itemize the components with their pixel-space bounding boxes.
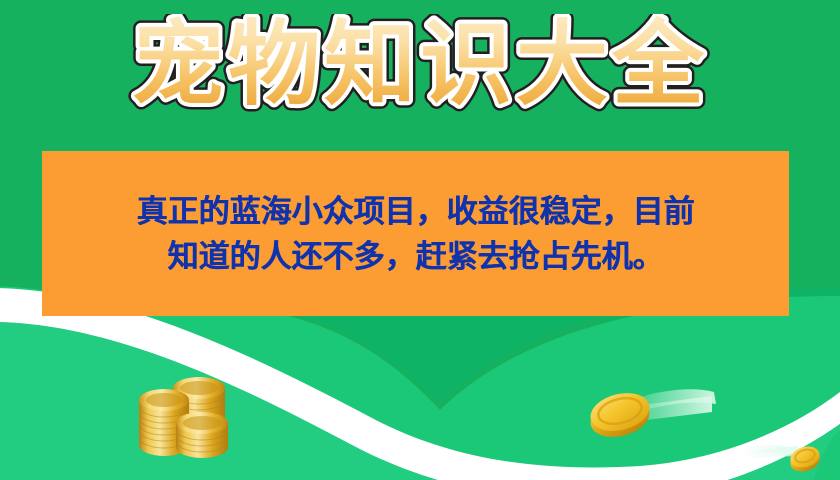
body-text-line-1: 真正的蓝海小众项目，收益很稳定，目前 [137, 190, 695, 234]
poster-canvas: 宠物知识大全 宠物知识大全 宠物知识大全 真正的蓝海小众项目，收益很稳定，目前 … [0, 0, 840, 480]
body-text-line-2: 知道的人还不多，赶紧去抢占先机。 [168, 235, 664, 279]
body-text-box: 真正的蓝海小众项目，收益很稳定，目前 知道的人还不多，赶紧去抢占先机。 [42, 151, 789, 316]
coin-stack-front [176, 412, 228, 458]
